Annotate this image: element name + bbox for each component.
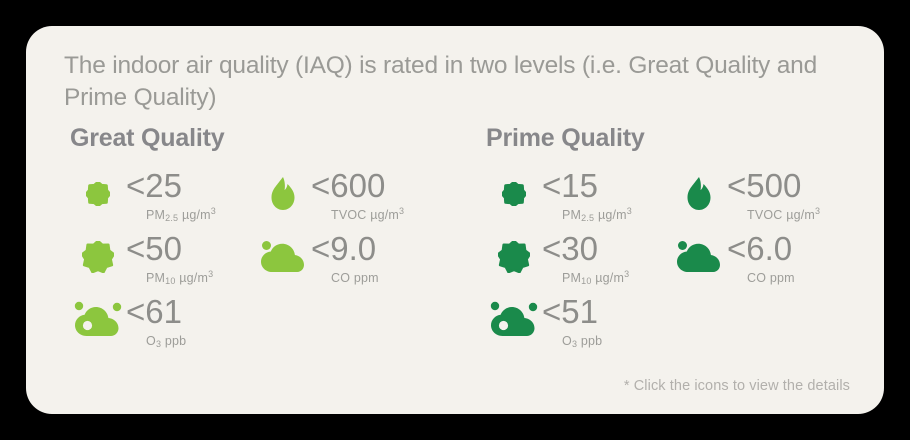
metric-text: <9.0CO ppm [311, 230, 379, 285]
metric-text: <6.0CO ppm [727, 230, 795, 285]
metric-great-pm25: <25PM2.5 µg/m3 [70, 167, 255, 222]
cloud-dot-icon[interactable] [671, 230, 727, 284]
metric-text: <61O3 ppb [126, 293, 186, 348]
metric-value: <51 [542, 295, 602, 328]
intro-text: The indoor air quality (IAQ) is rated in… [64, 50, 854, 115]
metric-row: <25PM2.5 µg/m3<600TVOC µg/m3 [70, 167, 468, 230]
starburst-large-icon[interactable] [70, 230, 126, 284]
metric-value: <500 [727, 169, 820, 202]
metric-value: <30 [542, 232, 629, 265]
metric-row: <51O3 ppb [486, 293, 884, 356]
ozone-cloud-icon[interactable] [486, 293, 542, 347]
ozone-cloud-icon[interactable] [70, 293, 126, 347]
quality-column-prime: Prime Quality<15PM2.5 µg/m3<500TVOC µg/m… [468, 124, 884, 356]
metric-prime-o3: <51O3 ppb [486, 293, 671, 348]
metric-text: <15PM2.5 µg/m3 [542, 167, 632, 222]
metric-value: <9.0 [311, 232, 379, 265]
metric-prime-co: <6.0CO ppm [671, 230, 861, 285]
metric-row: <15PM2.5 µg/m3<500TVOC µg/m3 [486, 167, 884, 230]
metric-unit: PM2.5 µg/m3 [126, 208, 216, 222]
metric-value: <25 [126, 169, 216, 202]
metric-unit: TVOC µg/m3 [727, 208, 820, 222]
footnote-hint: * Click the icons to view the details [624, 378, 850, 394]
screenshot-stage: The indoor air quality (IAQ) is rated in… [0, 0, 910, 440]
metric-prime-pm25: <15PM2.5 µg/m3 [486, 167, 671, 222]
column-title-great: Great Quality [70, 124, 468, 153]
metric-unit: PM2.5 µg/m3 [542, 208, 632, 222]
metric-great-pm10: <50PM10 µg/m3 [70, 230, 255, 285]
quality-columns: Great Quality<25PM2.5 µg/m3<600TVOC µg/m… [26, 124, 884, 356]
metric-unit: O3 ppb [126, 334, 186, 348]
flame-icon[interactable] [255, 167, 311, 221]
metric-row: <50PM10 µg/m3<9.0CO ppm [70, 230, 468, 293]
metric-row: <61O3 ppb [70, 293, 468, 356]
starburst-small-icon[interactable] [70, 167, 126, 221]
metric-text: <500TVOC µg/m3 [727, 167, 820, 222]
metric-value: <61 [126, 295, 186, 328]
metric-unit: PM10 µg/m3 [542, 271, 629, 285]
metric-value: <600 [311, 169, 404, 202]
metric-text: <30PM10 µg/m3 [542, 230, 629, 285]
metric-text: <25PM2.5 µg/m3 [126, 167, 216, 222]
quality-column-great: Great Quality<25PM2.5 µg/m3<600TVOC µg/m… [26, 124, 468, 356]
metric-value: <50 [126, 232, 213, 265]
metric-prime-pm10: <30PM10 µg/m3 [486, 230, 671, 285]
iaq-info-card: The indoor air quality (IAQ) is rated in… [26, 26, 884, 414]
metric-unit: PM10 µg/m3 [126, 271, 213, 285]
metric-unit: TVOC µg/m3 [311, 208, 404, 222]
flame-icon[interactable] [671, 167, 727, 221]
metric-unit: CO ppm [727, 271, 795, 285]
metric-value: <6.0 [727, 232, 795, 265]
metric-value: <15 [542, 169, 632, 202]
metric-unit: O3 ppb [542, 334, 602, 348]
metric-text: <51O3 ppb [542, 293, 602, 348]
metric-rows-great: <25PM2.5 µg/m3<600TVOC µg/m3<50PM10 µg/m… [70, 167, 468, 356]
metric-row: <30PM10 µg/m3<6.0CO ppm [486, 230, 884, 293]
metric-rows-prime: <15PM2.5 µg/m3<500TVOC µg/m3<30PM10 µg/m… [486, 167, 884, 356]
metric-great-co: <9.0CO ppm [255, 230, 445, 285]
column-title-prime: Prime Quality [486, 124, 884, 153]
cloud-dot-icon[interactable] [255, 230, 311, 284]
metric-text: <600TVOC µg/m3 [311, 167, 404, 222]
metric-great-o3: <61O3 ppb [70, 293, 255, 348]
starburst-small-icon[interactable] [486, 167, 542, 221]
metric-great-tvoc: <600TVOC µg/m3 [255, 167, 445, 222]
starburst-large-icon[interactable] [486, 230, 542, 284]
metric-unit: CO ppm [311, 271, 379, 285]
metric-text: <50PM10 µg/m3 [126, 230, 213, 285]
metric-prime-tvoc: <500TVOC µg/m3 [671, 167, 861, 222]
